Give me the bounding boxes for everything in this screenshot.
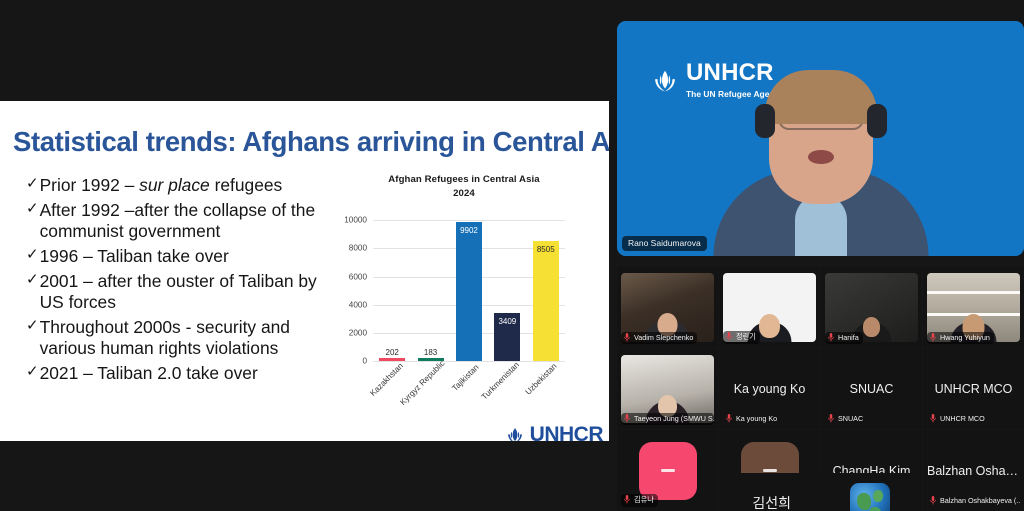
chart-x-tick-label: Kyrgyz Republic [398,359,446,407]
checkmark-icon: ✓ [26,317,39,335]
unhcr-watermark-logo: UNHCR [504,423,603,441]
chart-bar-group: 3409Turkmenistan [494,209,520,361]
unhcr-watermark-text: UNHCR [530,423,603,441]
chart-bar: 9902 [456,222,482,361]
slide-bullet: ✓Throughout 2000s - security and various… [26,317,338,358]
chart-bar-value-label: 3409 [498,317,516,326]
unhcr-emblem-icon [504,424,526,441]
participant-name-badge: UNHCR MCO [927,413,989,425]
slide-bullet: ✓Prior 1992 – sur place refugees [26,175,338,195]
microphone-icon [624,414,630,423]
participant-name: Balzhan Oshakbayeva (... [940,496,1020,505]
slide-bullet-text: Prior 1992 – sur place refugees [40,175,338,195]
participant-display-name: 김선희 [748,493,795,511]
active-speaker-tile[interactable]: UNHCR The UN Refugee Agency Rano Saiduma… [617,21,1024,256]
chart-bar-group: 9902Tajikistan [456,209,482,361]
participant-tile[interactable]: SNUACSNUAC [821,349,922,430]
chart-y-tick-label: 4000 [349,300,367,309]
chart-bars: 202Kazakhstan183Kyrgyz Republic9902Tajik… [373,209,565,361]
participant-overlay-row: 김선희김선희양준용 [723,473,919,511]
chart-y-tick-label: 8000 [349,244,367,253]
speaker-name: Rano Saidumarova [628,238,701,248]
microphone-icon [828,414,834,423]
participant-name: UNHCR MCO [940,414,985,423]
slide-bullet-text: 2021 – Taliban 2.0 take over [40,363,338,383]
slide-title: Statistical trends: Afghans arriving in … [13,126,603,158]
speaker-name-badge: Rano Saidumarova [622,236,707,251]
slide-bullet-text: 1996 – Taliban take over [40,246,338,266]
checkmark-icon: ✓ [26,363,39,381]
participant-display-name: SNUAC [846,382,898,396]
chart-y-tick-label: 2000 [349,328,367,337]
unhcr-emblem-icon [650,66,680,96]
chart-bar-value-label: 202 [386,348,399,357]
chart-x-tick-label: Uzbekistan [523,362,558,397]
slide-bullet: ✓2001 – after the ouster of Taliban by U… [26,271,338,312]
slide-bullet-text: After 1992 –after the collapse of the co… [40,200,338,241]
participant-name-badge: Balzhan Oshakbayeva (... [927,495,1020,507]
chart-bar-value-label: 183 [424,348,437,357]
chart-gridline: 0 [373,361,565,362]
slide-bullet: ✓After 1992 –after the collapse of the c… [26,200,338,241]
chart-bar-group: 183Kyrgyz Republic [418,209,444,361]
slide-bullet: ✓2021 – Taliban 2.0 take over [26,363,338,383]
participant-name-badge: Ka young Ko [723,413,781,425]
avatar-placeholder-dash [661,469,675,472]
participant-name: Ka young Ko [736,414,777,423]
participant-display-name: Ka young Ko [730,382,810,396]
participant-name-badge: SNUAC [825,413,867,425]
participant-tile[interactable]: UNHCR MCOUNHCR MCO [923,349,1024,430]
chart-plot-area: 0200040006000800010000 202Kazakhstan183K… [373,209,565,361]
microphone-icon [828,333,834,342]
participant-name-badge: Vadim Slepchenko [621,332,697,344]
chart-bar-group: 202Kazakhstan [379,209,405,361]
chart-container: Afghan Refugees in Central Asia 2024 020… [333,173,595,423]
globe-avatar-icon [850,483,890,511]
participant-name: Hanifa [838,333,859,342]
chart-title-line1: Afghan Refugees in Central Asia [333,173,595,187]
slide-bullet-text: 2001 – after the ouster of Taliban by US… [40,271,338,312]
participant-name-badge: 정린기 [723,331,760,344]
microphone-icon [930,333,936,342]
participant-tile[interactable]: Taeyeon Jung (SMWU S... [617,349,718,430]
participant-name: Vadim Slepchenko [634,333,693,342]
chart-bar: 3409 [494,313,520,361]
participant-tile[interactable]: Ka young KoKa young Ko [719,349,820,430]
chart-y-tick-label: 10000 [344,216,367,225]
microphone-icon [726,414,732,423]
microphone-icon [930,414,936,423]
video-panel: UNHCR The UN Refugee Agency Rano Saiduma… [617,21,1024,511]
participant-name-badge: 김유나 [621,494,658,507]
checkmark-icon: ✓ [26,246,39,264]
participant-tile[interactable]: 김선희김선희 [723,473,821,511]
participant-name-badge: Taeyeon Jung (SMWU S... [621,413,714,425]
chart-bar-group: 8505Uzbekistan [533,209,559,361]
participant-display-name: Balzhan Oshak... [923,464,1024,478]
participant-name: 김유나 [634,495,654,505]
chart-x-tick-label: Kazakhstan [369,361,406,398]
participant-tile[interactable]: Hanifa [821,267,922,348]
chart-title: Afghan Refugees in Central Asia 2024 [333,173,595,201]
slide-bullet-list: ✓Prior 1992 – sur place refugees✓After 1… [26,175,338,388]
participant-name: Taeyeon Jung (SMWU S... [634,414,714,423]
checkmark-icon: ✓ [26,271,39,289]
participant-display-name: UNHCR MCO [931,382,1017,396]
meeting-screen: Statistical trends: Afghans arriving in … [0,0,1024,511]
checkmark-icon: ✓ [26,200,39,218]
microphone-icon [624,495,630,504]
checkmark-icon: ✓ [26,175,39,193]
chart-title-line2: 2024 [333,187,595,201]
participant-tile[interactable]: 정린기 [719,267,820,348]
chart-x-tick-label: Turkmenistan [480,360,521,401]
participant-tile[interactable]: 김유나 [617,430,718,511]
chart-bar: 8505 [533,241,559,361]
chart-bar-value-label: 9902 [460,226,478,235]
participant-name: Hwang Yuhiyun [940,333,990,342]
participant-tile[interactable]: Balzhan Oshak...Balzhan Oshakbayeva (... [923,430,1024,511]
participant-tile[interactable]: Vadim Slepchenko [617,267,718,348]
participant-tile[interactable]: Hwang Yuhiyun [923,267,1024,348]
participant-name-badge: Hwang Yuhiyun [927,332,994,344]
chart-y-tick-label: 0 [362,357,367,366]
speaker-video-figure [706,76,936,256]
microphone-icon [930,496,936,505]
participant-name: 정린기 [736,332,756,342]
avatar-placeholder-dash [763,469,777,472]
participant-tile[interactable]: 양준용 [822,473,920,511]
slide-bullet: ✓1996 – Taliban take over [26,246,338,266]
microphone-icon [624,333,630,342]
chart-bar-value-label: 8505 [537,245,555,254]
shared-slide: Statistical trends: Afghans arriving in … [0,101,609,441]
chart-x-tick-label: Tajikistan [450,363,480,393]
participant-avatar [639,442,697,500]
participant-name-badge: Hanifa [825,332,863,344]
slide-bullet-text: Throughout 2000s - security and various … [40,317,338,358]
chart-bar: 202 [379,358,405,361]
microphone-icon [726,332,732,341]
participant-name: SNUAC [838,414,863,423]
chart-y-tick-label: 6000 [349,272,367,281]
